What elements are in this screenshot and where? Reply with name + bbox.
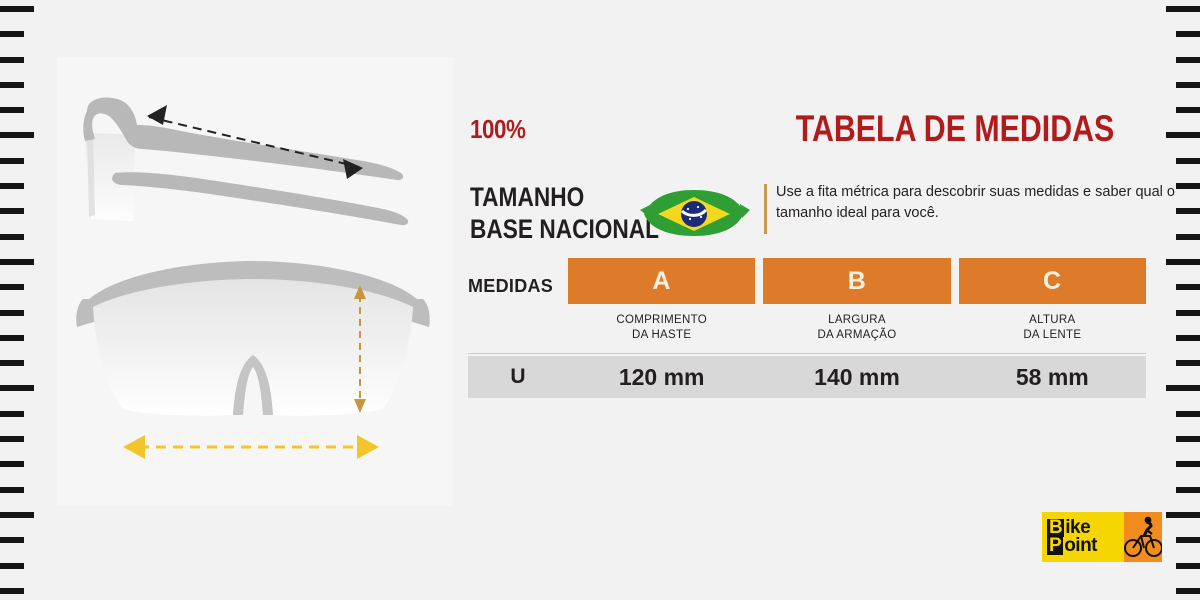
column-b-sub-line2: DA ARMAÇÃO bbox=[817, 329, 896, 341]
ruler-tick bbox=[1166, 512, 1200, 518]
ruler-tick bbox=[1176, 107, 1200, 113]
ruler-tick bbox=[0, 132, 34, 138]
ruler-tick bbox=[1176, 411, 1200, 417]
ruler-tick bbox=[0, 588, 24, 594]
column-a-sub-line1: COMPRIMENTO bbox=[616, 314, 707, 326]
ruler-tick bbox=[1166, 259, 1200, 265]
size-info-row: TAMANHO BASE NACIONAL Use a fita métrica… bbox=[468, 178, 1140, 250]
ruler-tick bbox=[1176, 360, 1200, 366]
logo-cap-p: P bbox=[1047, 537, 1063, 555]
ruler-tick bbox=[0, 436, 24, 442]
row-value-a: 120 mm bbox=[568, 364, 755, 391]
ruler-tick bbox=[0, 335, 24, 341]
column-c: C ALTURA DA LENTE bbox=[959, 258, 1146, 343]
row-value-c: 58 mm bbox=[959, 364, 1146, 391]
column-a: A COMPRIMENTO DA HASTE bbox=[568, 258, 755, 343]
logo-line-2: Point bbox=[1047, 537, 1124, 555]
ruler-tick bbox=[0, 158, 24, 164]
column-c-sub-line1: ALTURA bbox=[1029, 314, 1075, 326]
ruler-tick bbox=[1176, 183, 1200, 189]
logo-wordmark: Bike Point bbox=[1042, 512, 1124, 562]
ruler-tick bbox=[1166, 132, 1200, 138]
frame-width-arrow bbox=[123, 435, 379, 459]
row-value-b: 140 mm bbox=[763, 364, 950, 391]
size-standard-line2: BASE NACIONAL bbox=[470, 214, 659, 244]
size-standard-line1: TAMANHO bbox=[470, 182, 584, 212]
ruler-tick bbox=[1166, 6, 1200, 12]
description-divider bbox=[764, 184, 767, 234]
ruler-tick bbox=[0, 487, 24, 493]
ruler-tick bbox=[1176, 284, 1200, 290]
brazil-flag-icon bbox=[638, 184, 750, 242]
product-image-panel bbox=[57, 57, 453, 506]
ruler-tick bbox=[1176, 31, 1200, 37]
row-values: 120 mm 140 mm 58 mm bbox=[568, 364, 1146, 391]
ruler-tick bbox=[1176, 208, 1200, 214]
ruler-tick bbox=[0, 461, 24, 467]
ruler-tick bbox=[0, 360, 24, 366]
ruler-tick bbox=[0, 82, 24, 88]
column-b: B LARGURA DA ARMAÇÃO bbox=[763, 258, 950, 343]
ruler-tick bbox=[0, 310, 24, 316]
ruler-left bbox=[0, 0, 46, 600]
ruler-tick bbox=[1176, 57, 1200, 63]
page-title: TABELA DE MEDIDAS bbox=[796, 108, 1067, 150]
column-c-chip: C bbox=[959, 258, 1146, 304]
ruler-right bbox=[1154, 0, 1200, 600]
ruler-tick bbox=[0, 563, 24, 569]
ruler-tick bbox=[1176, 158, 1200, 164]
ruler-tick bbox=[0, 411, 24, 417]
description-text: Use a fita métrica para descobrir suas m… bbox=[776, 182, 1176, 224]
ruler-tick bbox=[1176, 563, 1200, 569]
description-line1: Use a fita métrica para descobrir suas m… bbox=[776, 184, 1091, 200]
ruler-tick bbox=[1176, 537, 1200, 543]
table-divider bbox=[468, 353, 1146, 354]
measurements-table: MEDIDAS A COMPRIMENTO DA HASTE B LARGURA… bbox=[468, 258, 1146, 398]
table-row: U 120 mm 140 mm 58 mm bbox=[468, 356, 1146, 398]
ruler-tick bbox=[0, 512, 34, 518]
ruler-tick bbox=[1176, 310, 1200, 316]
ruler-tick bbox=[1176, 82, 1200, 88]
header-row: 100% TABELA DE MEDIDAS bbox=[468, 112, 1140, 152]
ruler-tick bbox=[0, 208, 24, 214]
ruler-tick bbox=[0, 57, 24, 63]
ruler-tick bbox=[1176, 461, 1200, 467]
logo-rest-oint: oint bbox=[1064, 535, 1097, 556]
table-header-row: MEDIDAS A COMPRIMENTO DA HASTE B LARGURA… bbox=[468, 258, 1146, 343]
column-a-sub-line2: DA HASTE bbox=[632, 329, 691, 341]
measures-header-label: MEDIDAS bbox=[468, 258, 568, 297]
ruler-tick bbox=[0, 259, 34, 265]
ruler-tick bbox=[0, 284, 24, 290]
ruler-tick bbox=[0, 183, 24, 189]
ruler-tick bbox=[0, 385, 34, 391]
sunglasses-side-view bbox=[63, 69, 443, 254]
column-c-sub-line2: DA LENTE bbox=[1023, 329, 1081, 341]
bike-point-logo: Bike Point bbox=[1042, 512, 1162, 562]
ruler-tick bbox=[0, 537, 24, 543]
size-standard-label: TAMANHO BASE NACIONAL bbox=[470, 182, 659, 246]
sunglasses-front-view bbox=[63, 255, 443, 485]
ruler-tick bbox=[1176, 436, 1200, 442]
column-b-sub-line1: LARGURA bbox=[828, 314, 886, 326]
ruler-tick bbox=[1166, 385, 1200, 391]
row-size-label: U bbox=[468, 365, 568, 389]
ruler-tick bbox=[1176, 234, 1200, 240]
column-b-sublabel: LARGURA DA ARMAÇÃO bbox=[763, 304, 950, 343]
ruler-tick bbox=[0, 107, 24, 113]
ruler-tick bbox=[0, 31, 24, 37]
content-column: 100% TABELA DE MEDIDAS TAMANHO BASE NACI… bbox=[468, 0, 1140, 600]
ruler-tick bbox=[1176, 487, 1200, 493]
column-a-chip: A bbox=[568, 258, 755, 304]
brand-mark: 100% bbox=[470, 114, 525, 145]
ruler-tick bbox=[1176, 588, 1200, 594]
ruler-tick bbox=[0, 6, 34, 12]
ruler-tick bbox=[0, 234, 24, 240]
column-a-sublabel: COMPRIMENTO DA HASTE bbox=[568, 304, 755, 343]
ruler-tick bbox=[1176, 335, 1200, 341]
table-header-label-col: MEDIDAS bbox=[468, 258, 568, 297]
column-b-chip: B bbox=[763, 258, 950, 304]
column-c-sublabel: ALTURA DA LENTE bbox=[959, 304, 1146, 343]
table-header-columns: A COMPRIMENTO DA HASTE B LARGURA DA ARMA… bbox=[568, 258, 1146, 343]
